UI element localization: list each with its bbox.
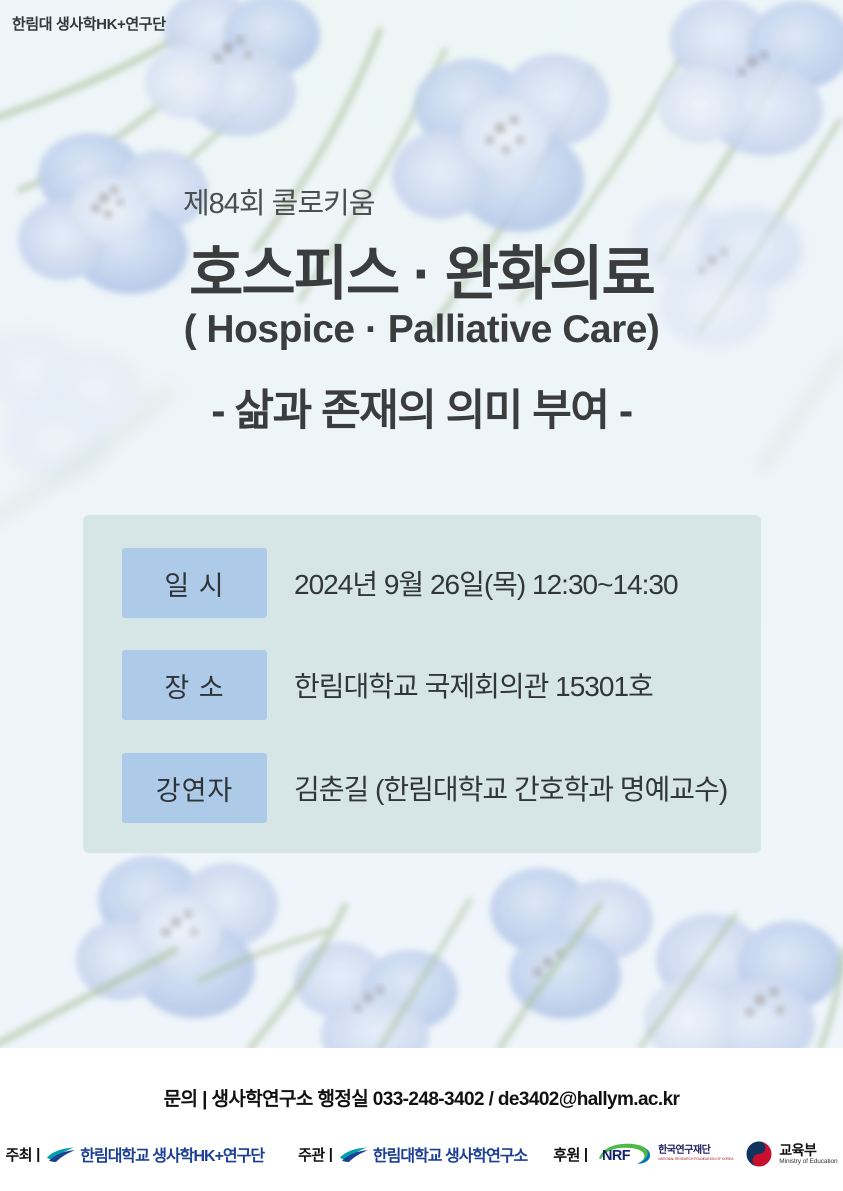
- host-name: 한림대학교 생사학HK+연구단: [80, 1142, 264, 1166]
- organizer-manager: 주관 | 한림대학교 생사학연구소: [298, 1142, 527, 1166]
- hallym-wave-icon: [46, 1145, 76, 1163]
- info-value-venue: 한림대학교 국제회의관 15301호: [294, 650, 653, 720]
- info-value-speaker: 김춘길 (한림대학교 간호학과 명예교수): [294, 753, 727, 823]
- sponsor-tag: 후원: [553, 1144, 580, 1165]
- manager-name: 한림대학교 생사학연구소: [373, 1142, 527, 1166]
- contact-line: 문의 | 생사학연구소 행정실 033-248-3402 / de3402@ha…: [0, 1084, 843, 1111]
- host-tag: 주최: [5, 1144, 32, 1165]
- page-title: 호스피스 · 완화의료: [0, 226, 843, 311]
- sub-title: - 삶과 존재의 의미 부여 -: [0, 376, 843, 438]
- brand-label: 한림대 생사학HK+연구단: [12, 13, 166, 34]
- sponsor-divider: |: [584, 1146, 588, 1163]
- organization-row: 주최 | 한림대학교 생사학HK+연구단 주관 | 한림대학교 생사학연구소: [0, 1134, 843, 1174]
- moe-korean-name: 교육부: [779, 1142, 837, 1158]
- info-label-speaker: 강연자: [122, 753, 267, 823]
- info-label-datetime: 일 시: [122, 548, 267, 618]
- manager-tag: 주관: [298, 1144, 325, 1165]
- info-label-venue: 장 소: [122, 650, 267, 720]
- colloquium-number: 제84회 콜로키움: [183, 180, 374, 222]
- manager-divider: |: [329, 1146, 333, 1163]
- hallym-wave-icon-2: [339, 1145, 369, 1163]
- nrf-mark-icon: NRF: [596, 1142, 654, 1166]
- poster-canvas: 한림대 생사학HK+연구단 제84회 콜로키움 호스피스 · 완화의료 ( Ho…: [0, 0, 843, 1191]
- nrf-korean-block: 한국연구재단 NATIONAL RESEARCH FOUNDATION OF K…: [658, 1146, 733, 1161]
- english-title: ( Hospice · Palliative Care): [0, 308, 843, 352]
- poster-footer: 문의 | 생사학연구소 행정실 033-248-3402 / de3402@ha…: [0, 1048, 843, 1191]
- nrf-english-name: NATIONAL RESEARCH FOUNDATION OF KOREA: [658, 1158, 733, 1162]
- taegeuk-icon: [745, 1140, 773, 1168]
- svg-text:NRF: NRF: [602, 1148, 631, 1164]
- moe-text-block: 교육부 Ministry of Education: [779, 1142, 837, 1166]
- nrf-korean-name: 한국연구재단: [658, 1146, 733, 1156]
- nrf-logo: NRF 한국연구재단 NATIONAL RESEARCH FOUNDATION …: [596, 1142, 733, 1166]
- event-info-panel: 일 시 2024년 9월 26일(목) 12:30~14:30 장 소 한림대학…: [83, 515, 761, 853]
- organizer-sponsor: 후원 | NRF 한국연구재단 NATIONAL RESEARCH FOUNDA…: [553, 1140, 837, 1168]
- organizer-host: 주최 | 한림대학교 생사학HK+연구단: [5, 1142, 264, 1166]
- moe-english-name: Ministry of Education: [779, 1158, 837, 1165]
- host-divider: |: [36, 1146, 40, 1163]
- moe-logo: 교육부 Ministry of Education: [745, 1140, 837, 1168]
- info-value-datetime: 2024년 9월 26일(목) 12:30~14:30: [294, 548, 678, 618]
